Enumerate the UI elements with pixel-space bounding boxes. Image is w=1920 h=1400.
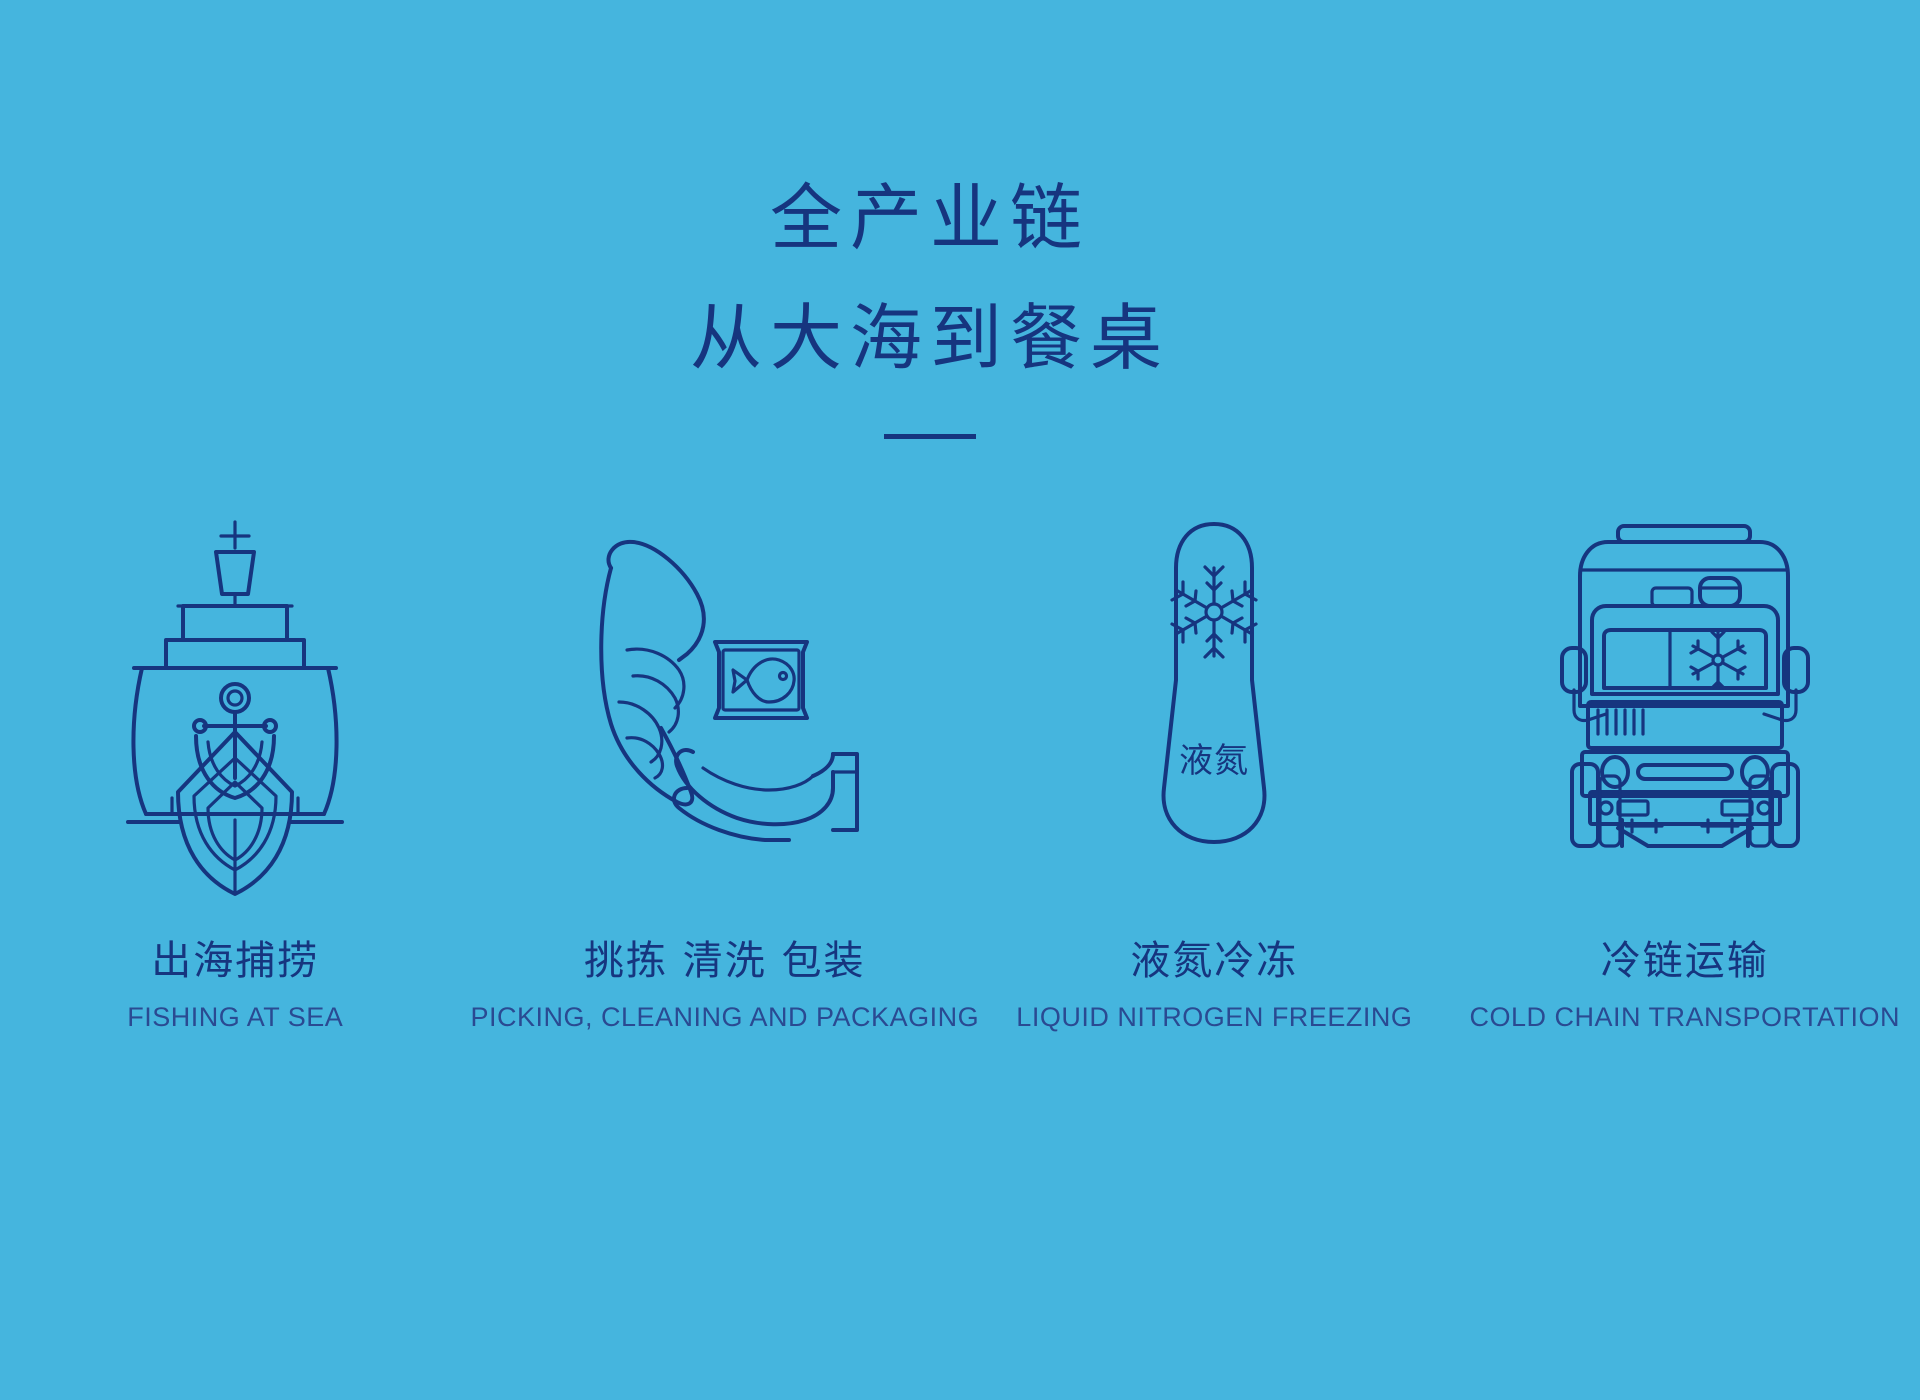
step-label-cn: 出海捕捞 [127,928,343,986]
step-labels: 出海捕捞 FISHING AT SEA [127,928,343,1033]
step-item-liquid-nitrogen-freezing[interactable]: 液氮 液氮冷冻 LIQUID NITROGEN FREEZING [979,520,1449,1033]
refrigerated-truck-icon [1560,520,1810,850]
page-title-line-2: 从大海到餐桌 [0,300,1860,378]
title-divider [884,434,976,439]
step-labels: 冷链运输 COLD CHAIN TRANSPORTATION [1470,928,1901,1033]
step-icon-box: 液氮 [1134,520,1294,850]
snowflake-icon [1172,567,1256,657]
page-header: 全产业链 从大海到餐桌 [0,180,1860,439]
step-label-cn: 液氮冷冻 [1016,928,1412,986]
step-label-cn: 冷链运输 [1470,928,1901,986]
step-icon-box [120,520,350,850]
step-icon-box [575,520,875,850]
nitrogen-tank-snowflake-icon: 液氮 [1134,520,1294,850]
step-icon-box [1560,520,1810,850]
tank-text: 液氮 [1179,741,1249,781]
hands-packaged-fish-icon [575,520,875,850]
step-labels: 挑拣 清洗 包装 PICKING, CLEANING AND PACKAGING [470,928,979,1033]
page-title-line-1: 全产业链 [0,180,1860,258]
step-label-en: COLD CHAIN TRANSPORTATION [1470,1002,1901,1033]
step-label-en: FISHING AT SEA [127,1002,343,1033]
step-item-fishing-at-sea[interactable]: 出海捕捞 FISHING AT SEA [0,520,470,1033]
step-item-picking-cleaning-packaging[interactable]: 挑拣 清洗 包装 PICKING, CLEANING AND PACKAGING [470,520,979,1033]
step-item-cold-chain-transportation[interactable]: 冷链运输 COLD CHAIN TRANSPORTATION [1450,520,1920,1033]
step-label-cn: 挑拣 清洗 包装 [470,928,979,986]
snowflake-icon [1691,632,1745,688]
step-label-en: PICKING, CLEANING AND PACKAGING [470,1002,979,1033]
fishing-boat-anchor-icon [120,520,350,850]
process-steps-row: 出海捕捞 FISHING AT SEA [0,520,1920,1033]
step-labels: 液氮冷冻 LIQUID NITROGEN FREEZING [1016,928,1412,1033]
step-label-en: LIQUID NITROGEN FREEZING [1016,1002,1412,1033]
title-divider-wrap [0,434,1860,439]
